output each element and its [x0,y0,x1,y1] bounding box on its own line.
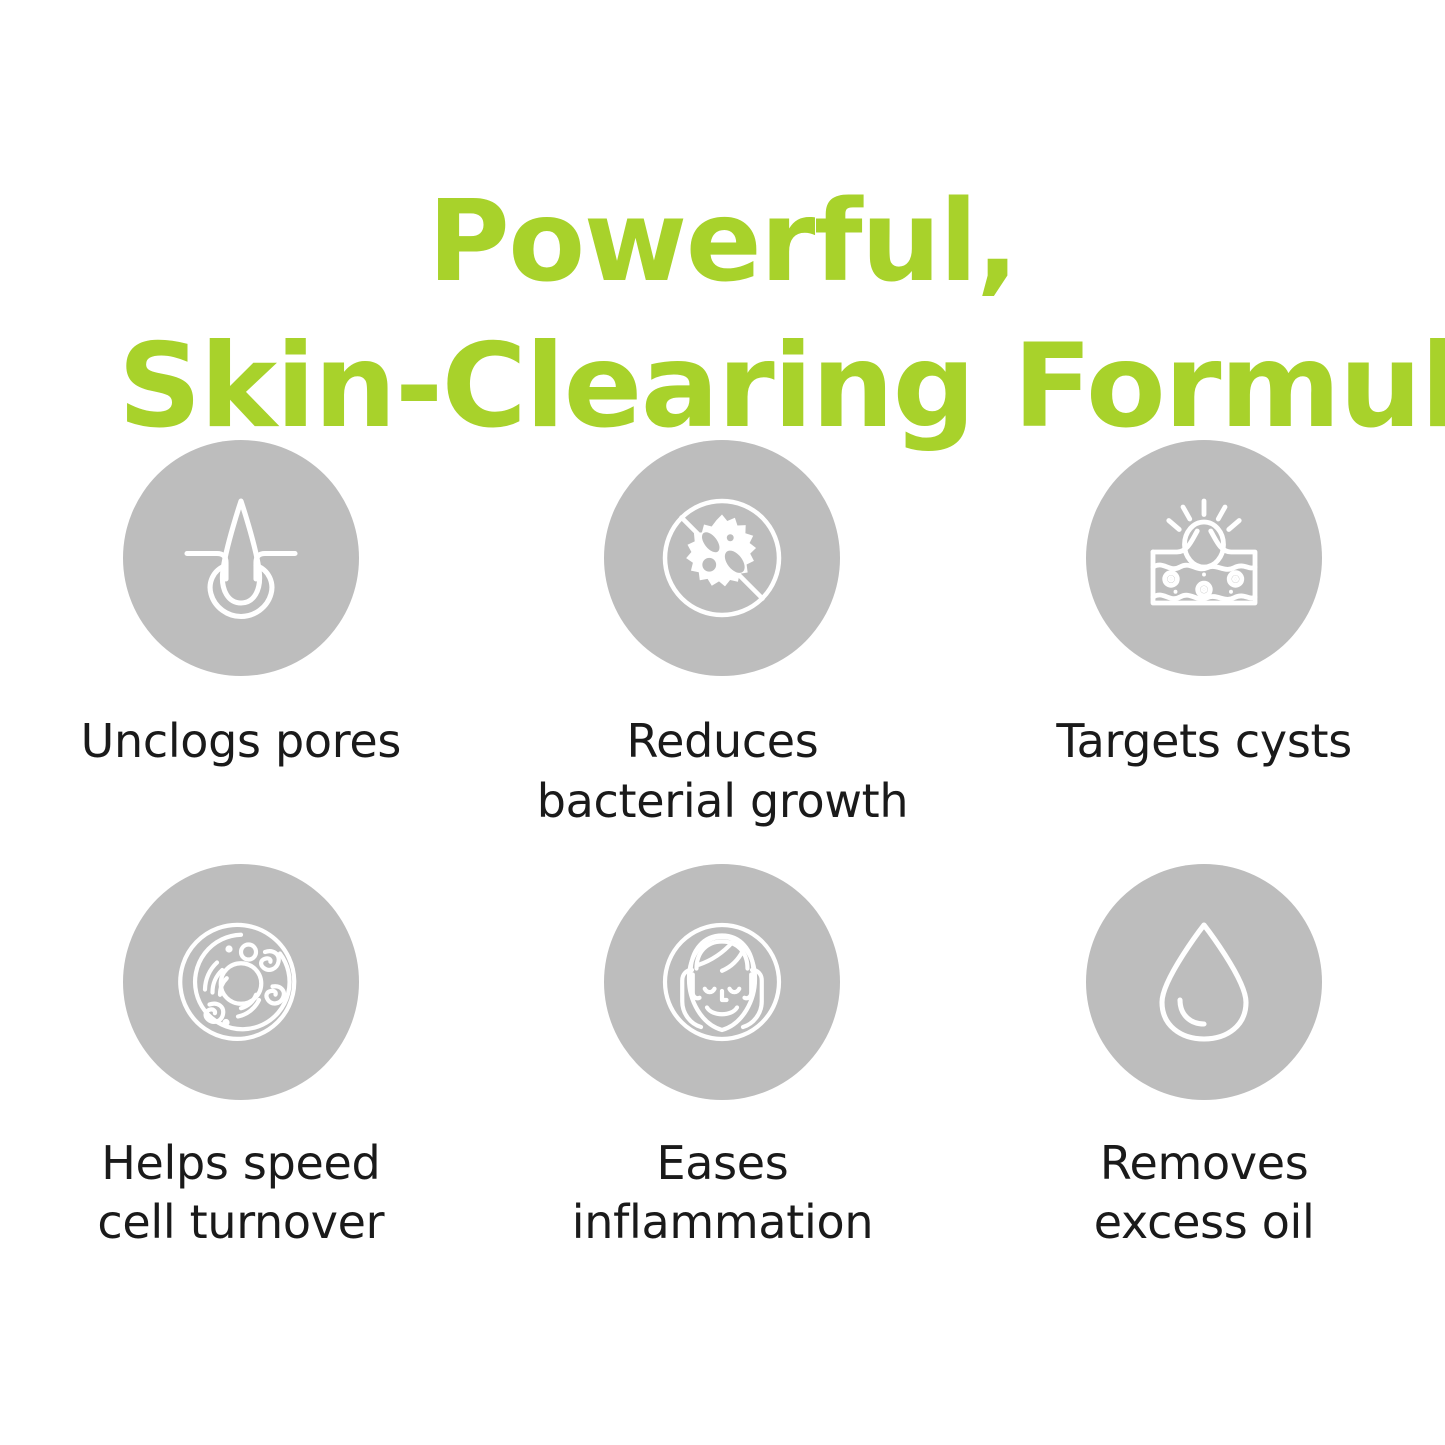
page-title-line-2: Skin-Clearing Formula [118,313,1327,460]
feature-item-removes-excess-oil: Removes excess oil [963,864,1445,1254]
feature-label: Helps speed cell turnover [97,1134,384,1254]
soothing-face-icon [647,907,797,1057]
feature-label: Reduces bacterial growth [537,712,909,832]
feature-item-helps-speed-cell-turnover: Helps speed cell turnover [0,864,482,1254]
feature-item-targets-cysts: Targets cysts [963,440,1445,832]
pore-follicle-icon [166,483,316,633]
skin-cyst-icon [1129,483,1279,633]
feature-label: Unclogs pores [81,712,401,772]
feature-label: Targets cysts [1056,712,1351,772]
feature-label: Removes excess oil [1094,1134,1315,1254]
no-bacteria-icon [647,483,797,633]
cell-icon [166,907,316,1057]
product-benefits-infographic: Powerful, Skin-Clearing Formula Unclogs … [0,0,1445,1445]
feature-grid: Unclogs pores [0,440,1445,1253]
feature-icon-badge [1086,864,1322,1100]
feature-item-unclogs-pores: Unclogs pores [0,440,482,832]
page-title: Powerful, Skin-Clearing Formula [0,171,1445,461]
feature-icon-badge [604,864,840,1100]
page-title-line-1: Powerful, [118,171,1327,313]
oil-droplet-icon [1129,907,1279,1057]
feature-icon-badge [1086,440,1322,676]
feature-label: Eases inflammation [572,1134,873,1254]
feature-icon-badge [123,440,359,676]
feature-icon-badge [123,864,359,1100]
feature-item-reduces-bacterial-growth: Reduces bacterial growth [482,440,964,832]
feature-icon-badge [604,440,840,676]
feature-item-eases-inflammation: Eases inflammation [482,864,964,1254]
